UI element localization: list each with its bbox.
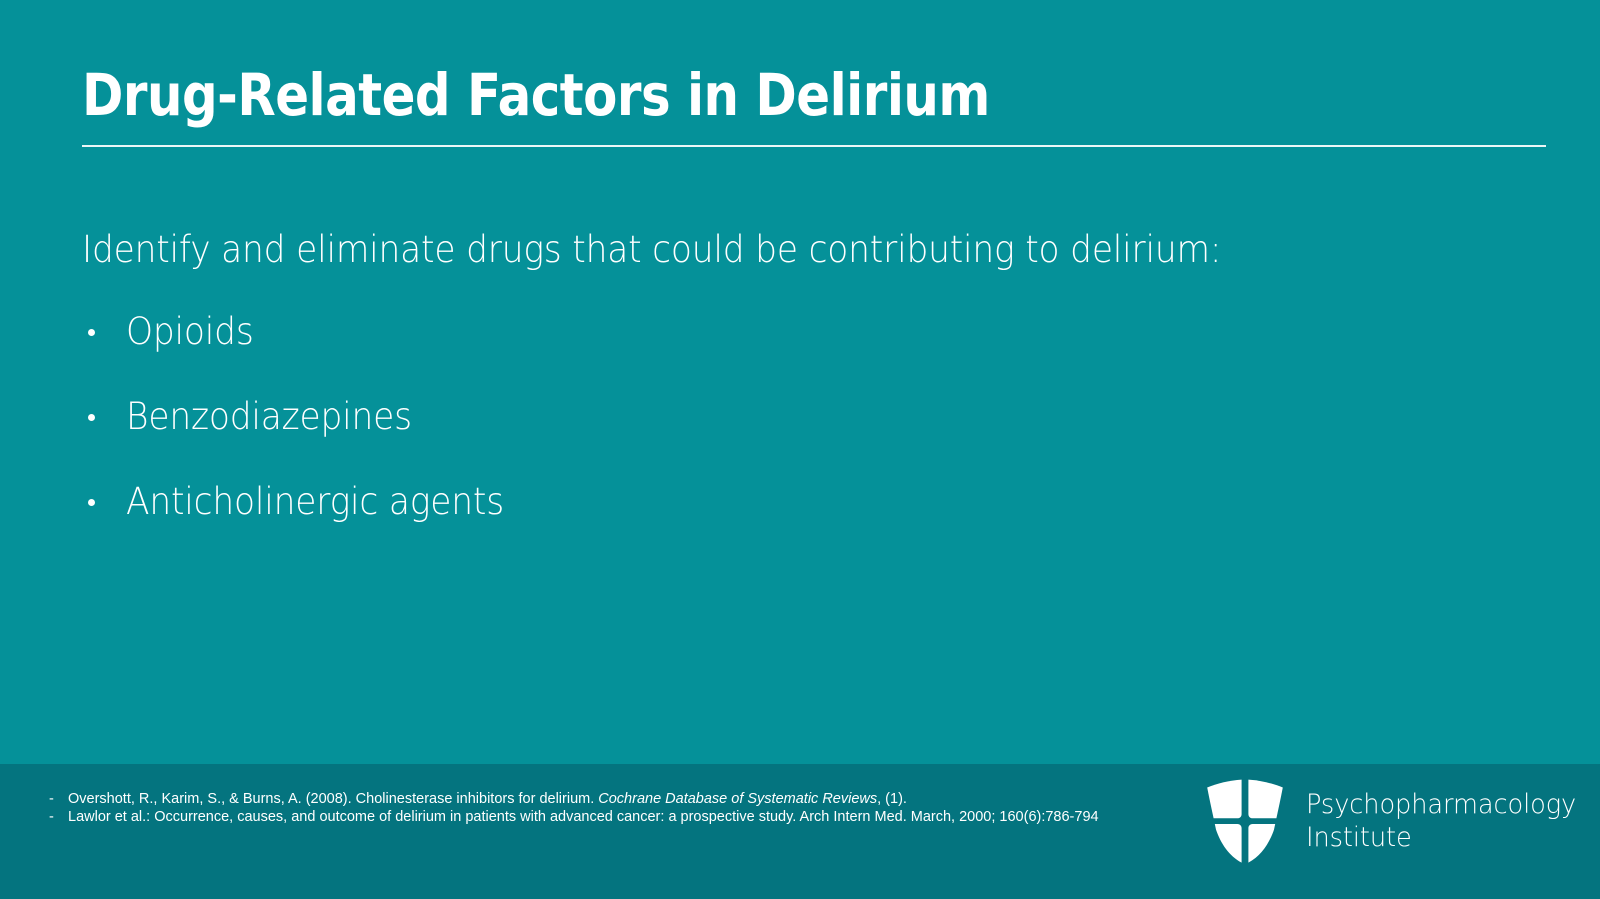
bullet-dot-icon (88, 499, 95, 506)
brand-name-line-2: Institute (1306, 821, 1576, 854)
slide-canvas: Drug-Related Factors in Delirium Identif… (0, 0, 1600, 899)
list-item: Opioids (82, 313, 1282, 350)
citation-dash-marker: - (49, 808, 68, 826)
citation-item: - Lawlor et al.: Occurrence, causes, and… (49, 808, 1109, 826)
citation-dash-marker: - (49, 790, 68, 808)
bullet-dot-icon (88, 414, 95, 421)
citation-text: Overshott, R., Karim, S., & Burns, A. (2… (68, 790, 1109, 808)
title-divider (82, 145, 1546, 147)
shield-icon (1204, 777, 1286, 865)
brand-wordmark: Psychopharmacology Institute (1306, 788, 1576, 854)
citation-text-post: , (1). (877, 791, 907, 807)
brand-logo: Psychopharmacology Institute (1204, 777, 1590, 865)
footer-band: - Overshott, R., Karim, S., & Burns, A. … (0, 764, 1600, 899)
list-item: Anticholinergic agents (82, 483, 1282, 520)
citation-item: - Overshott, R., Karim, S., & Burns, A. … (49, 790, 1109, 808)
citation-text-pre: Overshott, R., Karim, S., & Burns, A. (2… (68, 791, 598, 807)
brand-name-line-1: Psychopharmacology (1306, 788, 1576, 821)
bullet-list: Opioids Benzodiazepines Anticholinergic … (82, 313, 1282, 568)
citation-text: Lawlor et al.: Occurrence, causes, and o… (68, 808, 1109, 826)
list-item-label: Anticholinergic agents (126, 483, 504, 520)
list-item-label: Opioids (126, 313, 254, 350)
list-item: Benzodiazepines (82, 398, 1282, 435)
title-block: Drug-Related Factors in Delirium (82, 64, 1546, 127)
citation-text-pre: Lawlor et al.: Occurrence, causes, and o… (68, 809, 1099, 825)
list-item-label: Benzodiazepines (126, 398, 412, 435)
citation-list: - Overshott, R., Karim, S., & Burns, A. … (49, 790, 1109, 826)
page-title: Drug-Related Factors in Delirium (82, 64, 1341, 127)
body-block: Identify and eliminate drugs that could … (82, 228, 1482, 272)
bullet-dot-icon (88, 329, 95, 336)
citation-journal-title: Cochrane Database of Systematic Reviews (598, 791, 877, 807)
lead-paragraph: Identify and eliminate drugs that could … (82, 228, 1384, 272)
